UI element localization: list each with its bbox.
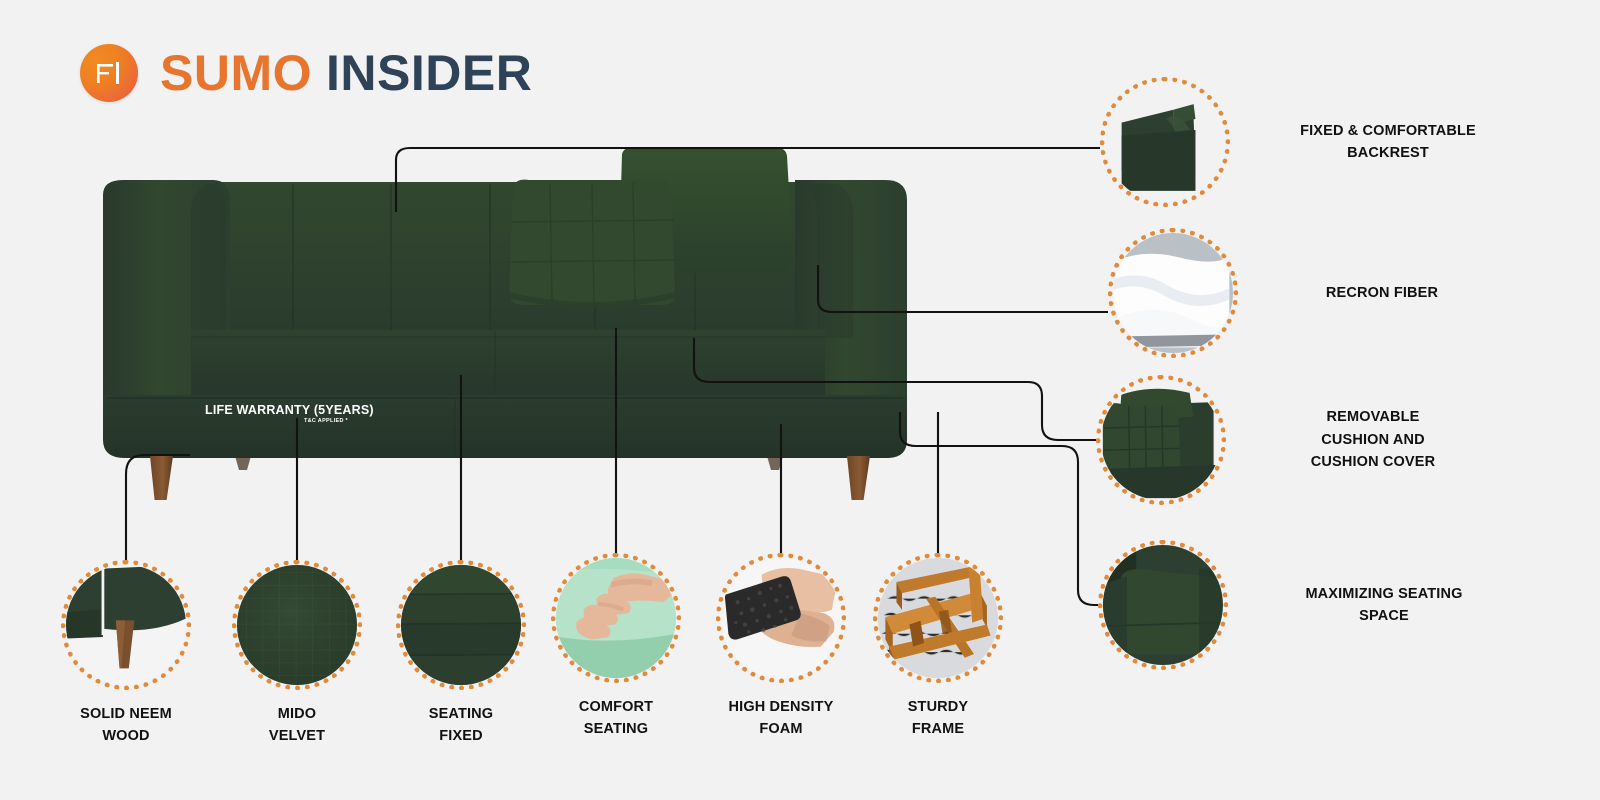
callout-mido-velvet[interactable]: MIDO VELVET xyxy=(232,560,362,748)
page-title: SUMO INSIDER xyxy=(160,48,532,98)
callout-sturdy-frame[interactable]: STURDY FRAME xyxy=(873,553,1003,741)
brand-header: SUMO INSIDER xyxy=(80,44,532,102)
recron-fiber-icon xyxy=(1108,228,1238,358)
fi-monogram-glyph xyxy=(80,44,138,102)
callout-label: SOLID NEEM WOOD xyxy=(51,703,201,748)
callout-comfort-seating[interactable]: COMFORT SEATING xyxy=(551,553,681,741)
callout-label: RECRON FIBER xyxy=(1262,282,1502,304)
callout-label: REMOVABLE CUSHION AND CUSHION COVER xyxy=(1248,406,1498,473)
seating-space-icon xyxy=(1098,540,1228,670)
callout-seating-fixed[interactable]: SEATING FIXED xyxy=(396,560,526,748)
comfort-foam-icon xyxy=(551,553,681,683)
callout-label: STURDY FRAME xyxy=(863,696,1013,741)
neem-wood-leg-icon xyxy=(61,560,191,690)
callout-seating-space[interactable]: MAXIMIZING SEATING SPACE xyxy=(1098,540,1518,670)
velvet-fabric-icon xyxy=(232,560,362,690)
density-foam-icon xyxy=(716,553,846,683)
wood-frame-icon xyxy=(873,553,1003,683)
fi-monogram-icon xyxy=(80,44,138,102)
wordmark-sumo: SUMO xyxy=(160,48,312,98)
callout-label: SEATING FIXED xyxy=(386,703,536,748)
callout-label: FIXED & COMFORTABLE BACKREST xyxy=(1254,120,1522,165)
sofa-backrest-icon xyxy=(1100,77,1230,207)
callout-label: MAXIMIZING SEATING SPACE xyxy=(1250,583,1518,628)
callout-label: HIGH DENSITY FOAM xyxy=(701,696,861,741)
removable-cushion-icon xyxy=(1096,375,1226,505)
callout-backrest[interactable]: FIXED & COMFORTABLE BACKREST xyxy=(1100,77,1522,207)
callout-label: COMFORT SEATING xyxy=(541,696,691,741)
callout-recron-fiber[interactable]: RECRON FIBER xyxy=(1108,228,1502,358)
infographic-canvas: SUMO INSIDER xyxy=(0,0,1600,800)
callout-neem-wood[interactable]: SOLID NEEM WOOD xyxy=(61,560,191,748)
seating-fixed-icon xyxy=(396,560,526,690)
sofa-product-image: LIFE WARRANTY (5YEARS) T&C APPLIED * xyxy=(95,140,925,500)
callout-removable-cushion[interactable]: REMOVABLE CUSHION AND CUSHION COVER xyxy=(1096,375,1498,505)
callout-high-density-foam[interactable]: HIGH DENSITY FOAM xyxy=(716,553,846,741)
callout-label: MIDO VELVET xyxy=(222,703,372,748)
wordmark-insider: INSIDER xyxy=(326,48,532,98)
